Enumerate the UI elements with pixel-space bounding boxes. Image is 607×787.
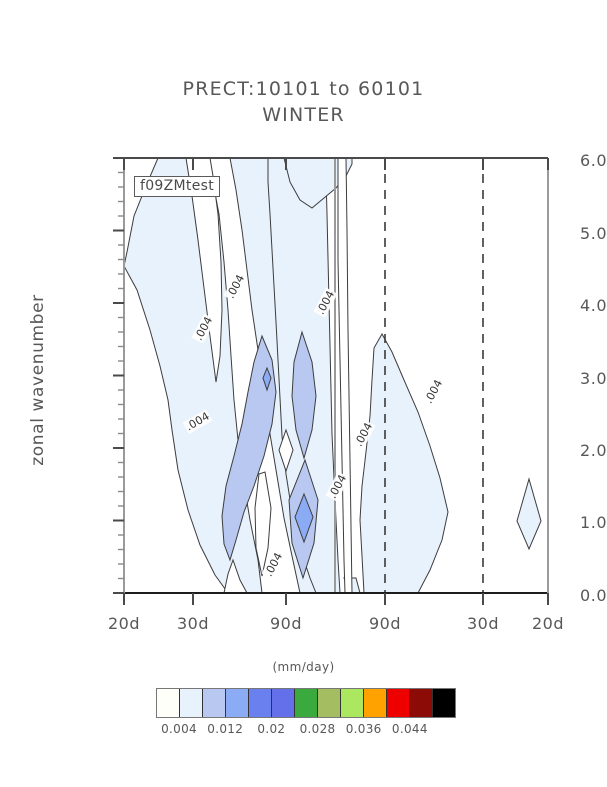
colorbar-cell-9	[364, 689, 387, 717]
colorbar-cell-7	[318, 689, 341, 717]
colorbar-cell-8	[341, 689, 364, 717]
y-major-ticks	[113, 158, 124, 593]
colorbar-tick-label-5: 0.044	[380, 722, 440, 736]
colorbar[interactable]	[156, 688, 456, 718]
colorbar-cell-5	[272, 689, 295, 717]
colorbar-cell-4	[249, 689, 272, 717]
colorbar-cell-6	[295, 689, 318, 717]
colorbar-cell-0	[157, 689, 180, 717]
colorbar-units-label: (mm/day)	[0, 660, 607, 674]
colorbar-cell-1	[180, 689, 203, 717]
figure-canvas: PRECT:10101 to 60101 WINTER zonal wavenu…	[0, 0, 607, 787]
colorbar-cell-2	[203, 689, 226, 717]
colorbar-cell-10	[387, 689, 410, 717]
colorbar-cell-3	[226, 689, 249, 717]
colorbar-cell-12	[433, 689, 455, 717]
colorbar-cell-11	[410, 689, 433, 717]
case-annotation-box: f09ZMtest	[134, 176, 220, 197]
